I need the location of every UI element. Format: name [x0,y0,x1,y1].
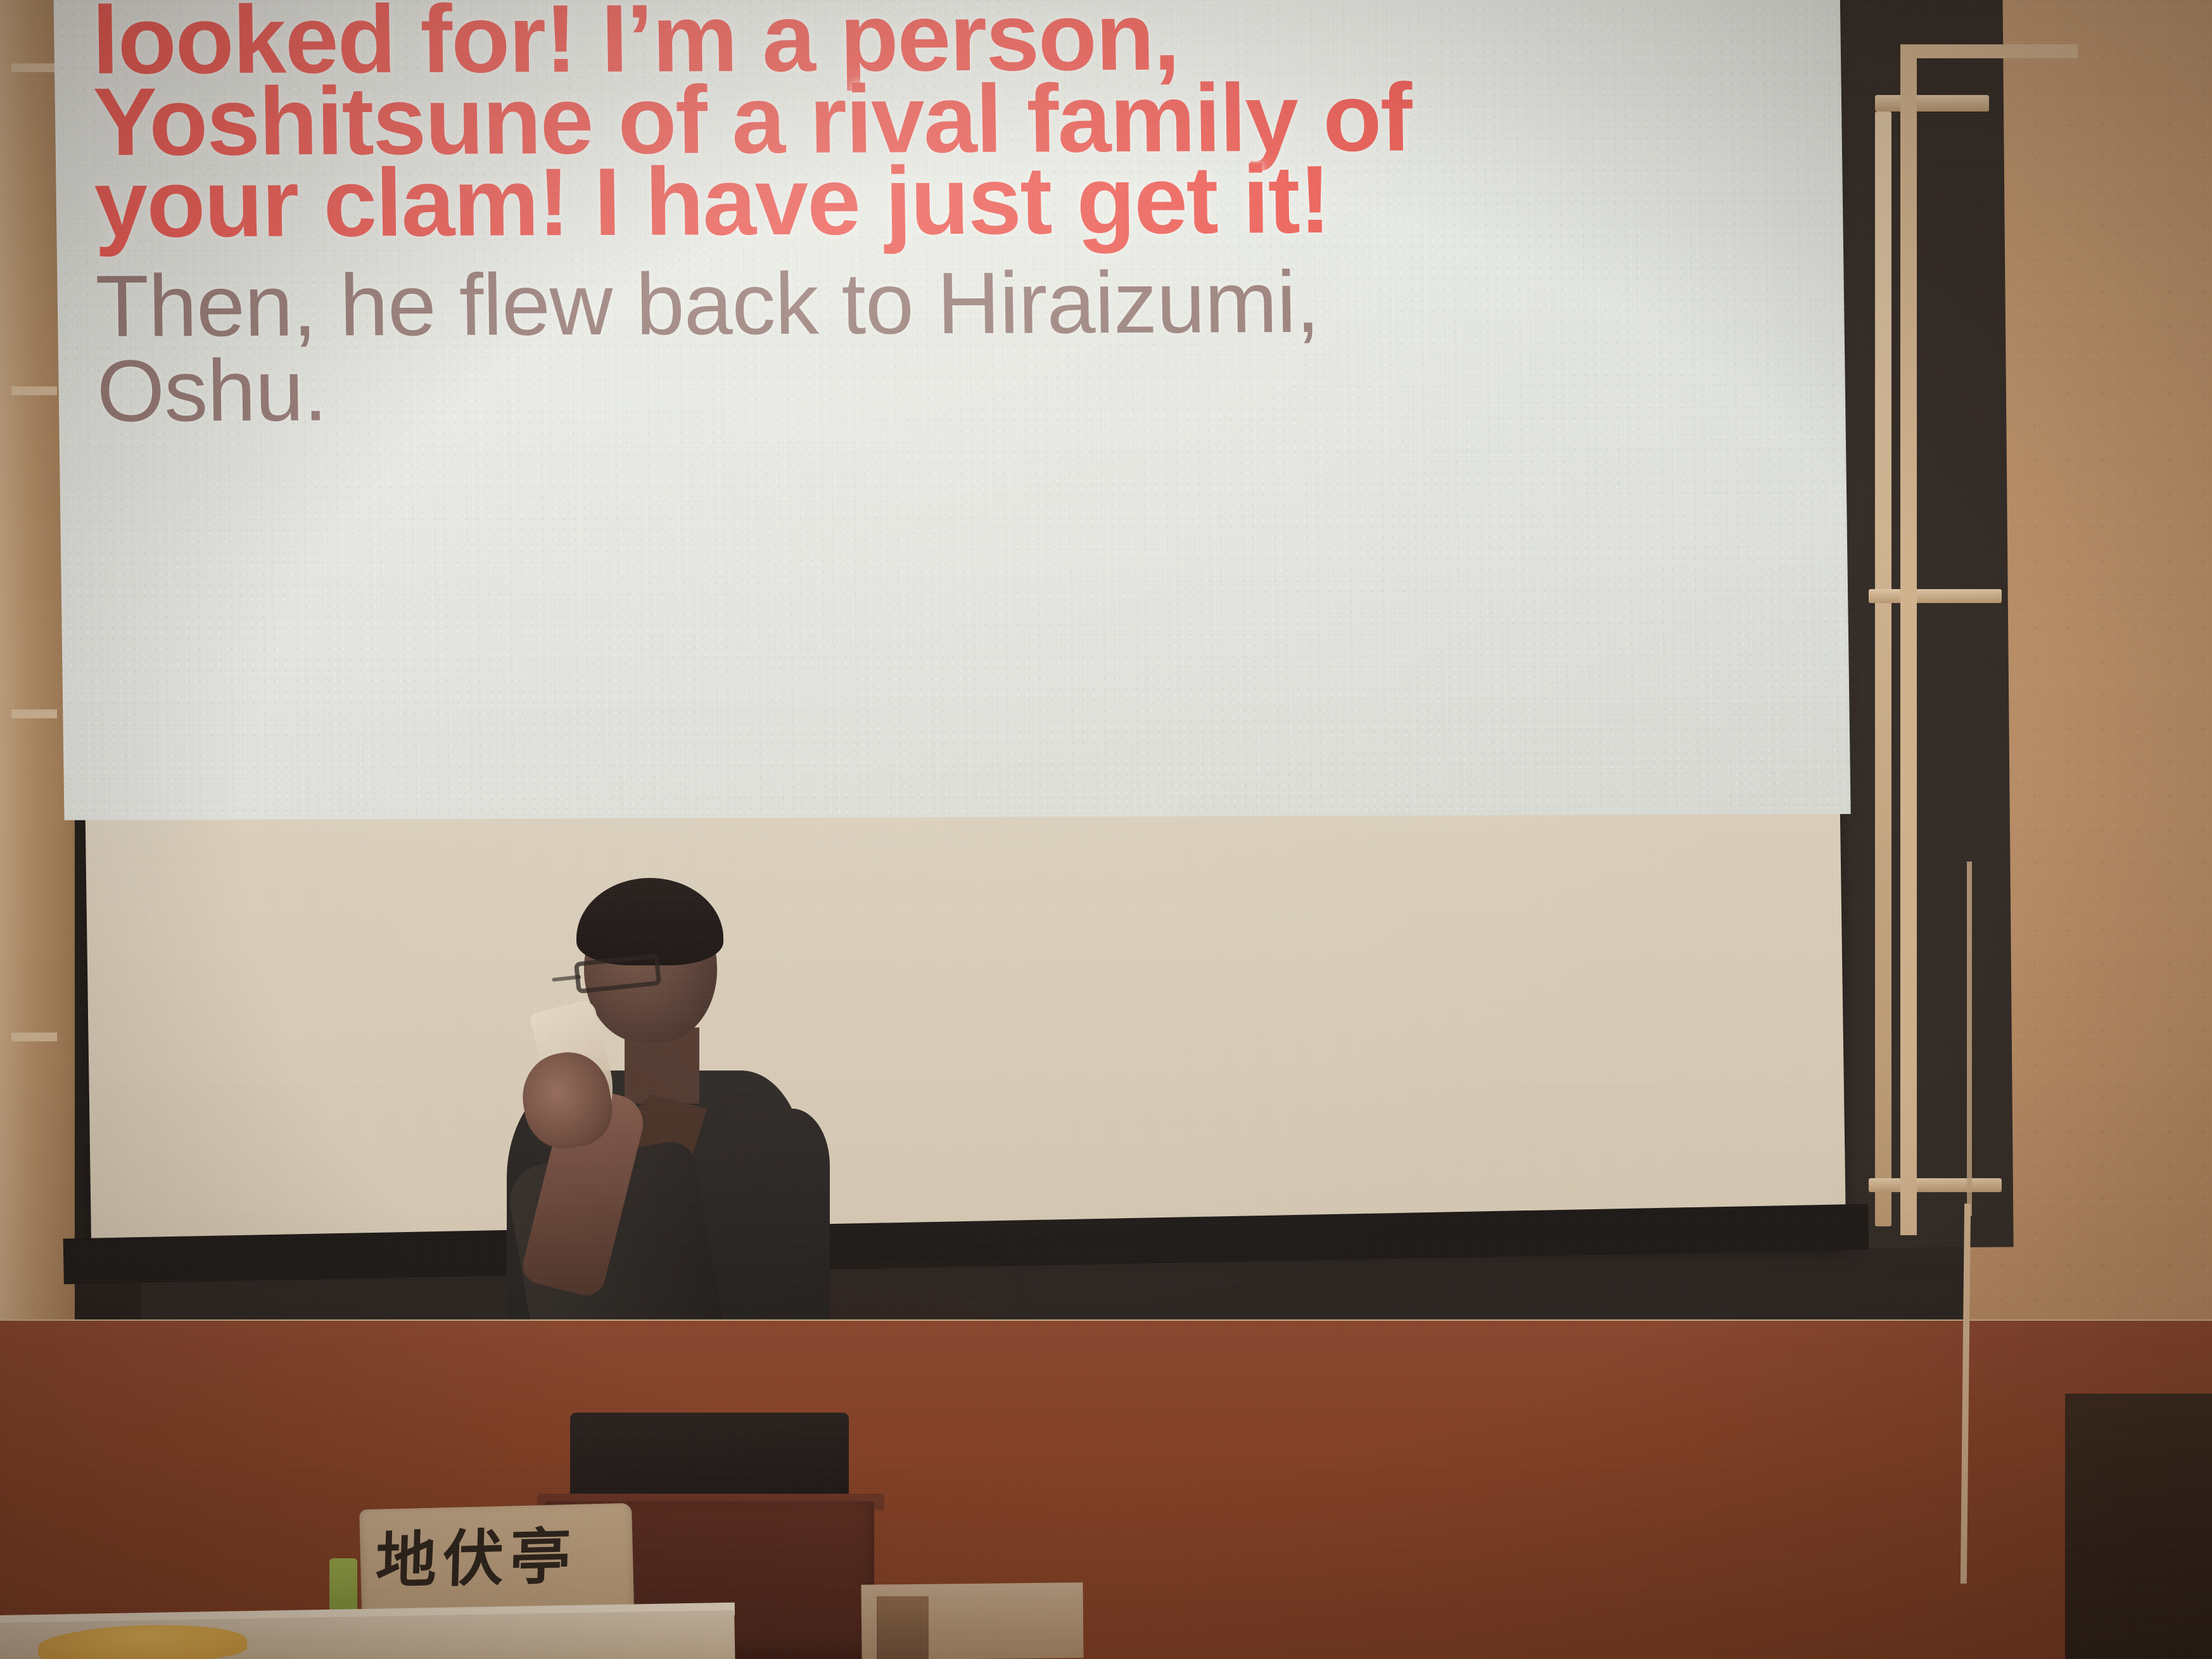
projected-slide: The scroll is indeed what I’ve looked fo… [52,0,1850,820]
frame-slat [11,386,57,395]
frame-slat [11,1033,57,1041]
side-box-item [877,1596,929,1659]
slide-highlight-line-4: your clam! I have just get it! [94,157,1805,245]
slide-body-line-1: Then, he flew back to Hiraizumi, [95,258,1807,348]
presenter-hair [576,878,723,965]
pull-cord-upper [1967,861,1972,1216]
projection-screen-assembly: The scroll is indeed what I’ve looked fo… [82,0,1837,1280]
window-frame [1900,44,2078,1235]
dark-object-right [2065,1394,2212,1659]
photo-canvas: The scroll is indeed what I’ve looked fo… [0,0,2212,1659]
name-plaque-text: 地伏亭 [375,1525,619,1591]
frame-slat [11,63,57,72]
slide-body-line-2: Oshu. [96,343,1808,433]
frame-slat [11,709,57,718]
chalkboard-rail-vertical [1875,111,1891,1226]
slide-text-block: The scroll is indeed what I’ve looked fo… [91,0,1808,434]
